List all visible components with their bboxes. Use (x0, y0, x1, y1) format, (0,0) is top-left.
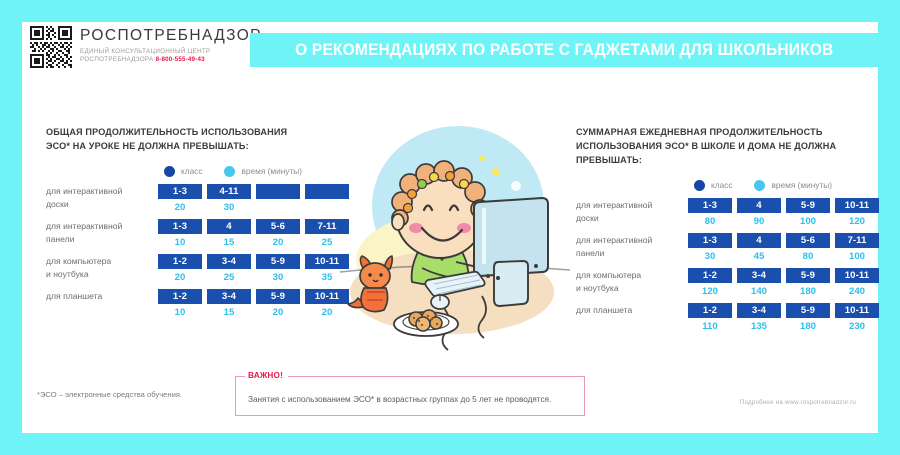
left-heading-line1: ОБЩАЯ ПРОДОЛЖИТЕЛЬНОСТЬ ИСПОЛЬЗОВАНИЯ (46, 127, 287, 137)
grade-chip: 10-11 (835, 268, 879, 283)
minutes-value: 25 (207, 269, 251, 285)
row-label-line1: для планшета (576, 305, 632, 315)
grade-chip: 1-2 (158, 289, 202, 304)
row-cells: 1-2 10 3-4 15 5-9 20 10-11 (158, 289, 349, 320)
row-label: для интерактивной панели (576, 233, 688, 259)
grade-chip: 10-11 (835, 303, 879, 318)
row-label-line2: доски (576, 213, 599, 223)
row-cells: 1-3 30 4 45 5-6 80 7-11 (688, 233, 879, 264)
left-heading-line2: ЭСО* НА УРОКЕ НЕ ДОЛЖНА ПРЕВЫШАТЬ: (46, 141, 249, 151)
legend-item-time: время (минуты) (224, 166, 302, 177)
minutes-value: 140 (737, 283, 781, 299)
row-label: для интерактивной панели (46, 219, 158, 245)
grade-chip: 3-4 (737, 303, 781, 318)
minutes-value: 20 (158, 199, 202, 215)
grade-chip: 4 (737, 198, 781, 213)
header: РОСПОТРЕБНАДЗОР ЕДИНЫЙ КОНСУЛЬТАЦИОННЫЙ … (22, 22, 878, 82)
legend-time-dot-icon (754, 180, 765, 191)
table-cell: 1-3 20 (158, 184, 202, 215)
minutes-value (256, 199, 300, 215)
table-cell: 10-11 120 (835, 198, 879, 229)
grade-chip: 7-11 (835, 233, 879, 248)
table-cell: 1-3 10 (158, 219, 202, 250)
table-cell: 3-4 140 (737, 268, 781, 299)
legend-class-label: класс (181, 166, 202, 176)
table-cell (256, 184, 300, 215)
minutes-value: 135 (737, 318, 781, 334)
qr-code-icon (30, 26, 72, 68)
minutes-value: 20 (158, 269, 202, 285)
right-table-heading: СУММАРНАЯ ЕЖЕДНЕВНАЯ ПРОДОЛЖИТЕЛЬНОСТЬ И… (576, 125, 876, 167)
poster-card: РОСПОТРЕБНАДЗОР ЕДИНЫЙ КОНСУЛЬТАЦИОННЫЙ … (22, 22, 878, 433)
row-label-line1: для интерактивной (576, 200, 652, 210)
minutes-value: 80 (688, 213, 732, 229)
table-row: для компьютера и ноутбука 1-2 20 3-4 25 (46, 254, 338, 289)
grade-chip: 1-3 (688, 233, 732, 248)
minutes-value: 180 (786, 318, 830, 334)
grade-chip: 5-9 (256, 254, 300, 269)
hotline-phone[interactable]: 8-800-555-49-43 (156, 56, 205, 63)
table-cell: 5-6 20 (256, 219, 300, 250)
left-table-block: ОБЩАЯ ПРОДОЛЖИТЕЛЬНОСТЬ ИСПОЛЬЗОВАНИЯ ЭС… (46, 125, 338, 324)
row-cells: 1-2 120 3-4 140 5-9 180 10-11 (688, 268, 879, 299)
minutes-value: 10 (158, 234, 202, 250)
table-cell: 1-3 80 (688, 198, 732, 229)
grade-chip: 5-9 (786, 198, 830, 213)
left-table-heading: ОБЩАЯ ПРОДОЛЖИТЕЛЬНОСТЬ ИСПОЛЬЗОВАНИЯ ЭС… (46, 125, 338, 153)
row-cells: 1-3 80 4 90 5-9 100 10-11 (688, 198, 879, 229)
row-cells: 1-2 20 3-4 25 5-9 30 10-11 (158, 254, 349, 285)
table-row: для интерактивной доски 1-3 20 4-11 30 (46, 184, 338, 219)
row-label: для компьютера и ноутбука (576, 268, 688, 294)
row-label: для планшета (576, 303, 688, 316)
legend-time-dot-icon (224, 166, 235, 177)
minutes-value: 120 (688, 283, 732, 299)
grade-chip: 5-6 (786, 233, 830, 248)
grade-chip: 1-2 (688, 268, 732, 283)
grade-chip: 1-3 (158, 219, 202, 234)
brand-title: РОСПОТРЕБНАДЗОР (80, 28, 262, 44)
table-row: для интерактивной доски 1-3 80 4 90 (576, 198, 876, 233)
minutes-value: 240 (835, 283, 879, 299)
minutes-value: 100 (786, 213, 830, 229)
table-cell: 10-11 230 (835, 303, 879, 334)
row-label-line2: доски (46, 199, 69, 209)
grade-chip: 3-4 (207, 254, 251, 269)
row-label-line2: панели (576, 248, 605, 258)
legend-class-dot-icon (164, 166, 175, 177)
grade-chip: 3-4 (207, 289, 251, 304)
grade-chip: 4 (207, 219, 251, 234)
brand-text: РОСПОТРЕБНАДЗОР ЕДИНЫЙ КОНСУЛЬТАЦИОННЫЙ … (80, 26, 262, 65)
brand-block: РОСПОТРЕБНАДЗОР ЕДИНЫЙ КОНСУЛЬТАЦИОННЫЙ … (30, 26, 262, 68)
minutes-value: 15 (207, 234, 251, 250)
row-label: для планшета (46, 289, 158, 302)
right-heading-line1: СУММАРНАЯ ЕЖЕДНЕВНАЯ ПРОДОЛЖИТЕЛЬНОСТЬ (576, 127, 823, 137)
table-cell: 1-2 110 (688, 303, 732, 334)
grade-chip: 5-9 (786, 303, 830, 318)
grade-chip (256, 184, 300, 199)
row-cells: 1-3 10 4 15 5-6 20 7-11 (158, 219, 349, 250)
minutes-value: 10 (158, 304, 202, 320)
important-label: ВАЖНО! (245, 371, 288, 380)
row-cells: 1-3 20 4-11 30 (158, 184, 349, 215)
row-cells: 1-2 110 3-4 135 5-9 180 10-11 (688, 303, 879, 334)
row-label-line1: для интерактивной (46, 186, 122, 196)
table-row: для компьютера и ноутбука 1-2 120 3-4 14… (576, 268, 876, 303)
grade-chip: 1-3 (158, 184, 202, 199)
minutes-value: 20 (256, 304, 300, 320)
table-cell: 1-3 30 (688, 233, 732, 264)
table-cell: 4-11 30 (207, 184, 251, 215)
right-table-rows: для интерактивной доски 1-3 80 4 90 (576, 198, 876, 338)
row-label: для интерактивной доски (46, 184, 158, 210)
minutes-value: 100 (835, 248, 879, 264)
brand-subtitle-line2: РОСПОТРЕБНАДЗОРА (80, 56, 154, 63)
table-row: для планшета 1-2 110 3-4 135 5 (576, 303, 876, 338)
grade-chip: 4-11 (207, 184, 251, 199)
table-cell: 5-6 80 (786, 233, 830, 264)
minutes-value: 230 (835, 318, 879, 334)
table-cell: 7-11 100 (835, 233, 879, 264)
grade-chip: 4 (737, 233, 781, 248)
legend-class-label: класс (711, 180, 732, 190)
grade-chip: 3-4 (737, 268, 781, 283)
legend-time-label: время (минуты) (241, 166, 302, 176)
left-table-rows: для интерактивной доски 1-3 20 4-11 30 (46, 184, 338, 324)
minutes-value: 30 (256, 269, 300, 285)
legend-item-class: класс (164, 166, 202, 177)
minutes-value: 15 (207, 304, 251, 320)
minutes-value: 20 (256, 234, 300, 250)
right-legend: класс время (минуты) (576, 178, 876, 192)
table-cell: 5-9 20 (256, 289, 300, 320)
row-label-line1: для компьютера (46, 256, 111, 266)
right-heading-line2: ИСПОЛЬЗОВАНИЯ ЭСО* В ШКОЛЕ И ДОМА НЕ ДОЛ… (576, 141, 836, 151)
table-cell: 3-4 135 (737, 303, 781, 334)
grade-chip: 1-2 (158, 254, 202, 269)
table-cell: 4 15 (207, 219, 251, 250)
table-cell: 1-2 10 (158, 289, 202, 320)
minutes-value: 80 (786, 248, 830, 264)
table-cell: 1-2 20 (158, 254, 202, 285)
banner: О РЕКОМЕНДАЦИЯХ ПО РАБОТЕ С ГАДЖЕТАМИ ДЛ… (250, 33, 878, 67)
table-cell: 10-11 240 (835, 268, 879, 299)
row-label-line1: для компьютера (576, 270, 641, 280)
row-label-line2: и ноутбука (46, 269, 89, 279)
grade-chip: 5-9 (256, 289, 300, 304)
grade-chip: 5-6 (256, 219, 300, 234)
table-cell: 5-9 30 (256, 254, 300, 285)
row-label-line1: для интерактивной (576, 235, 652, 245)
legend-class-dot-icon (694, 180, 705, 191)
source-link[interactable]: Подробнее на www.rospotrebnadzor.ru (740, 399, 856, 406)
footnote: *ЭСО – электронные средства обучения. (37, 390, 242, 401)
legend-item-class: класс (694, 180, 732, 191)
table-row: для интерактивной панели 1-3 10 4 15 (46, 219, 338, 254)
right-heading-line3: ПРЕВЫШАТЬ: (576, 155, 642, 165)
legend-time-label: время (минуты) (771, 180, 832, 190)
important-text: Занятия с использованием ЭСО* в возрастн… (248, 395, 551, 404)
table-cell: 5-9 180 (786, 303, 830, 334)
grade-chip: 1-2 (688, 303, 732, 318)
row-label-line2: панели (46, 234, 75, 244)
row-label-line1: для интерактивной (46, 221, 122, 231)
brand-subtitle: ЕДИНЫЙ КОНСУЛЬТАЦИОННЫЙ ЦЕНТР РОСПОТРЕБН… (80, 48, 262, 66)
row-label: для интерактивной доски (576, 198, 688, 224)
grade-chip: 10-11 (835, 198, 879, 213)
minutes-value: 30 (207, 199, 251, 215)
legend-item-time: время (минуты) (754, 180, 832, 191)
grade-chip: 1-3 (688, 198, 732, 213)
minutes-value: 120 (835, 213, 879, 229)
brand-subtitle-line1: ЕДИНЫЙ КОНСУЛЬТАЦИОННЫЙ ЦЕНТР (80, 48, 211, 55)
banner-title: О РЕКОМЕНДАЦИЯХ ПО РАБОТЕ С ГАДЖЕТАМИ ДЛ… (295, 41, 833, 60)
left-legend: класс время (минуты) (46, 164, 338, 178)
minutes-value: 90 (737, 213, 781, 229)
right-table-block: СУММАРНАЯ ЕЖЕДНЕВНАЯ ПРОДОЛЖИТЕЛЬНОСТЬ И… (576, 125, 876, 338)
grade-chip: 5-9 (786, 268, 830, 283)
row-label: для компьютера и ноутбука (46, 254, 158, 280)
row-label-line2: и ноутбука (576, 283, 619, 293)
minutes-value: 110 (688, 318, 732, 334)
child-at-computer-illustration (330, 110, 580, 360)
table-cell: 3-4 15 (207, 289, 251, 320)
table-cell: 5-9 180 (786, 268, 830, 299)
minutes-value: 45 (737, 248, 781, 264)
poster-root: РОСПОТРЕБНАДЗОР ЕДИНЫЙ КОНСУЛЬТАЦИОННЫЙ … (0, 0, 900, 455)
table-cell: 3-4 25 (207, 254, 251, 285)
minutes-value: 30 (688, 248, 732, 264)
minutes-value: 180 (786, 283, 830, 299)
table-cell: 4 90 (737, 198, 781, 229)
table-row: для планшета 1-2 10 3-4 15 5-9 (46, 289, 338, 324)
table-row: для интерактивной панели 1-3 30 4 45 (576, 233, 876, 268)
row-label-line1: для планшета (46, 291, 102, 301)
table-cell: 1-2 120 (688, 268, 732, 299)
important-callout: ВАЖНО! Занятия с использованием ЭСО* в в… (235, 376, 585, 416)
table-cell: 5-9 100 (786, 198, 830, 229)
table-cell: 4 45 (737, 233, 781, 264)
